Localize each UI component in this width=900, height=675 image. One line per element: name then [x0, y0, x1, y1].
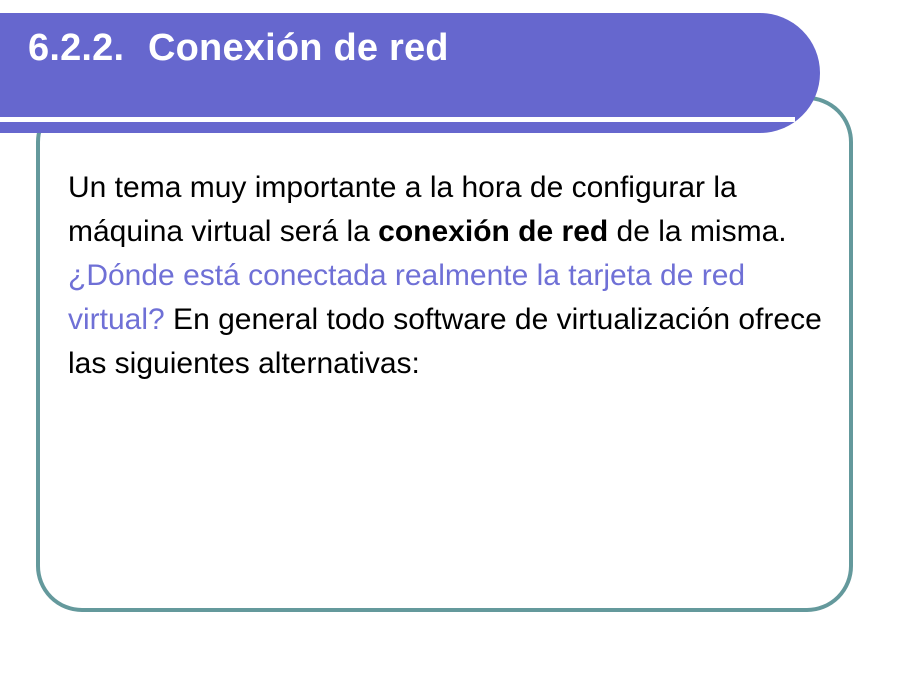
page-title: 6.2.2.Conexión de red [28, 25, 449, 71]
body-segment-plain-3: En general todo software de virtualizaci… [68, 303, 822, 380]
body-segment-bold: conexión de red [378, 215, 608, 248]
body-segment-plain-2: de la misma. [608, 215, 786, 248]
title-number: 6.2.2. [28, 25, 148, 71]
title-banner: 6.2.2.Conexión de red [0, 13, 820, 133]
title-heading: Conexión de red [148, 27, 449, 69]
body-paragraph: Un tema muy importante a la hora de conf… [68, 166, 828, 386]
title-divider [0, 117, 795, 122]
slide: 6.2.2.Conexión de red Un tema muy import… [0, 0, 900, 675]
body-text: Un tema muy importante a la hora de conf… [68, 166, 828, 386]
